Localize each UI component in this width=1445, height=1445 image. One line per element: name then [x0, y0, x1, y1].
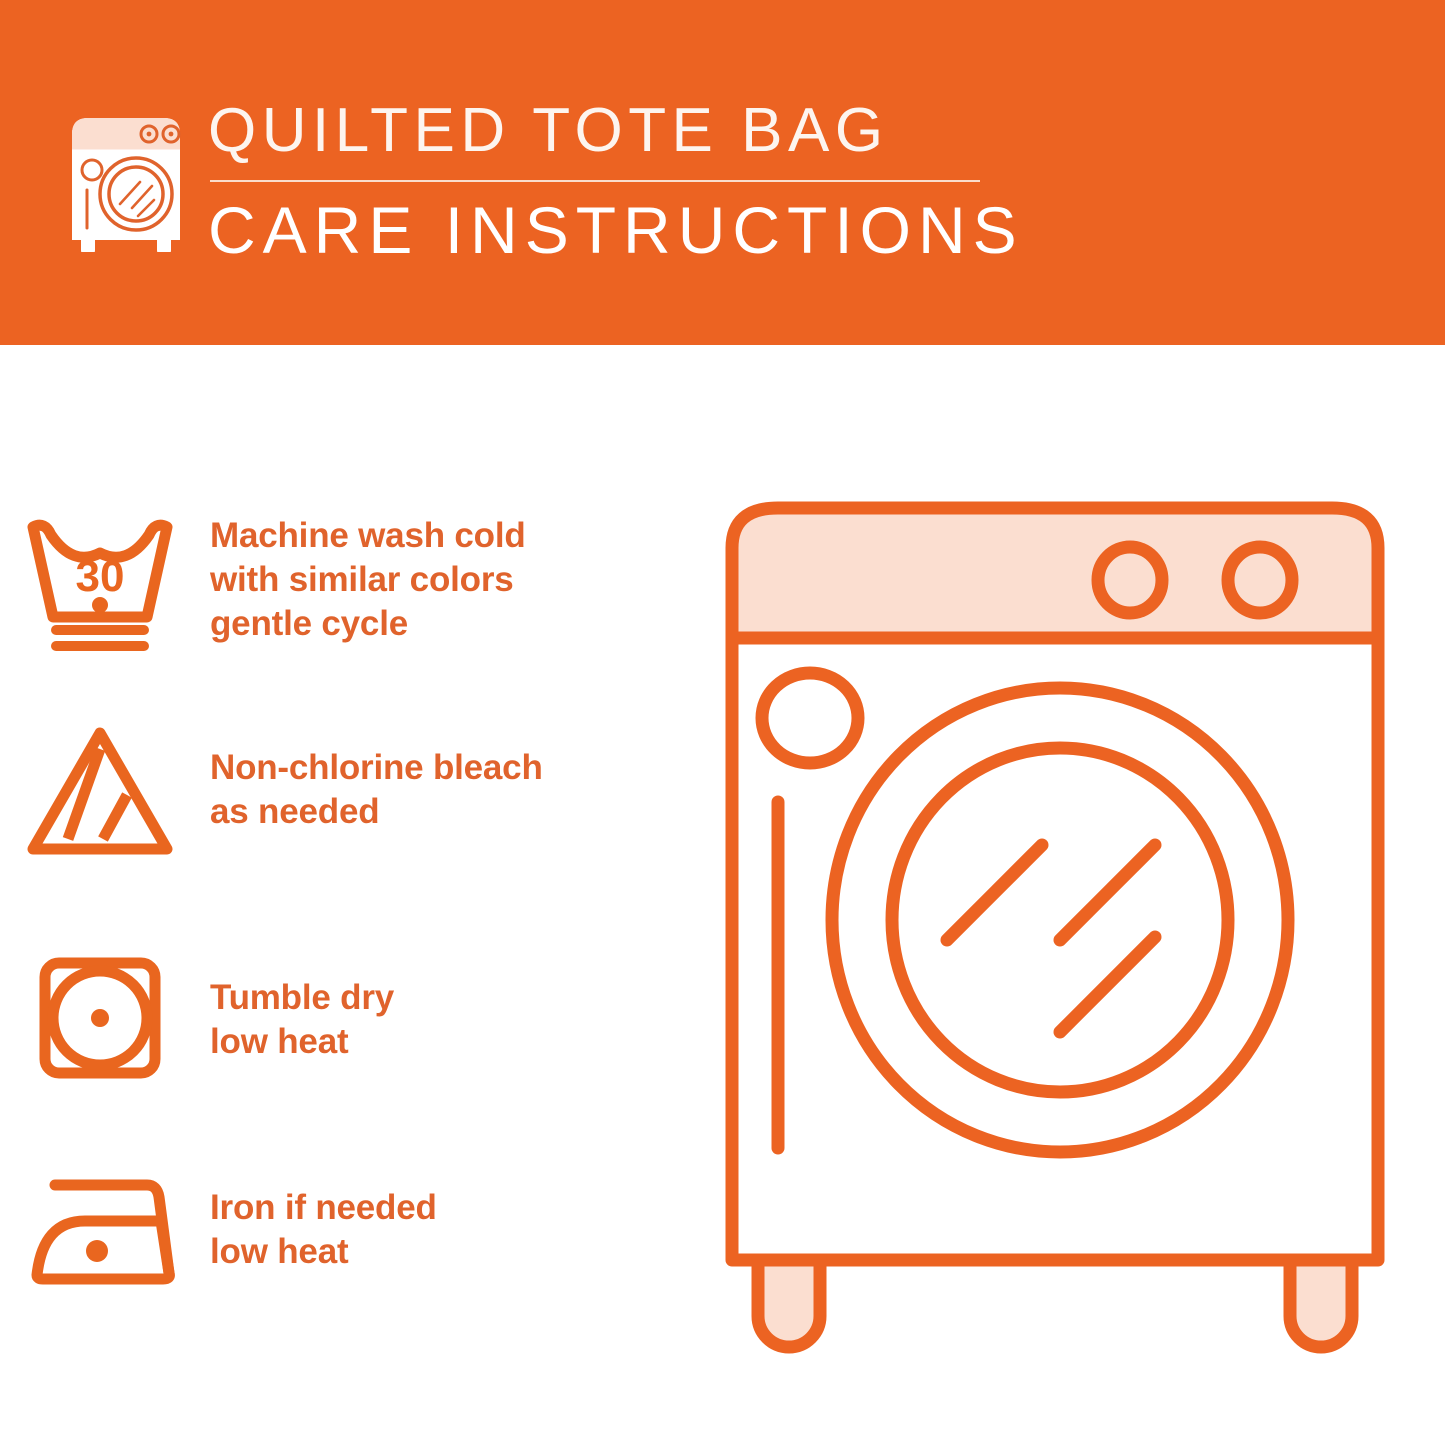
page-title: QUILTED TOTE BAG: [208, 94, 1388, 168]
washing-machine-illustration: [700, 470, 1410, 1380]
care-label-line: with similar colors: [210, 558, 526, 602]
care-label-line: gentle cycle: [210, 602, 526, 646]
tumble-dry-low-icon: [0, 933, 200, 1108]
care-label-line: Tumble dry: [210, 976, 394, 1020]
header-title-block: QUILTED TOTE BAG CARE INSTRUCTIONS: [208, 94, 1388, 268]
care-instructions-page: QUILTED TOTE BAG CARE INSTRUCTIONS 30: [0, 0, 1445, 1445]
list-item: Iron if needed low heat: [0, 1135, 700, 1325]
care-label: Iron if needed low heat: [200, 1186, 437, 1274]
care-label: Non-chlorine bleach as needed: [200, 746, 543, 834]
care-label-line: low heat: [210, 1230, 437, 1274]
care-label-line: Machine wash cold: [210, 514, 526, 558]
list-item: Non-chlorine bleach as needed: [0, 695, 700, 885]
list-item: Tumble dry low heat: [0, 925, 700, 1115]
care-label-line: low heat: [210, 1020, 394, 1064]
title-divider: [210, 180, 980, 182]
header-banner: QUILTED TOTE BAG CARE INSTRUCTIONS: [0, 0, 1445, 345]
care-label-line: Non-chlorine bleach: [210, 746, 543, 790]
wash-temperature-label: 30: [76, 552, 125, 601]
non-chlorine-bleach-icon: [0, 703, 200, 878]
care-instruction-list: 30 Machine wash cold with similar colors…: [0, 345, 700, 1445]
care-label: Tumble dry low heat: [200, 976, 394, 1064]
list-item: 30 Machine wash cold with similar colors…: [0, 485, 700, 675]
machine-wash-30-gentle-icon: 30: [0, 493, 200, 668]
washing-machine-icon: [64, 104, 188, 252]
care-label-line: Iron if needed: [210, 1186, 437, 1230]
care-label-line: as needed: [210, 790, 543, 834]
care-label: Machine wash cold with similar colors ge…: [200, 514, 526, 646]
page-subtitle: CARE INSTRUCTIONS: [208, 192, 1388, 268]
iron-low-heat-icon: [0, 1143, 200, 1318]
